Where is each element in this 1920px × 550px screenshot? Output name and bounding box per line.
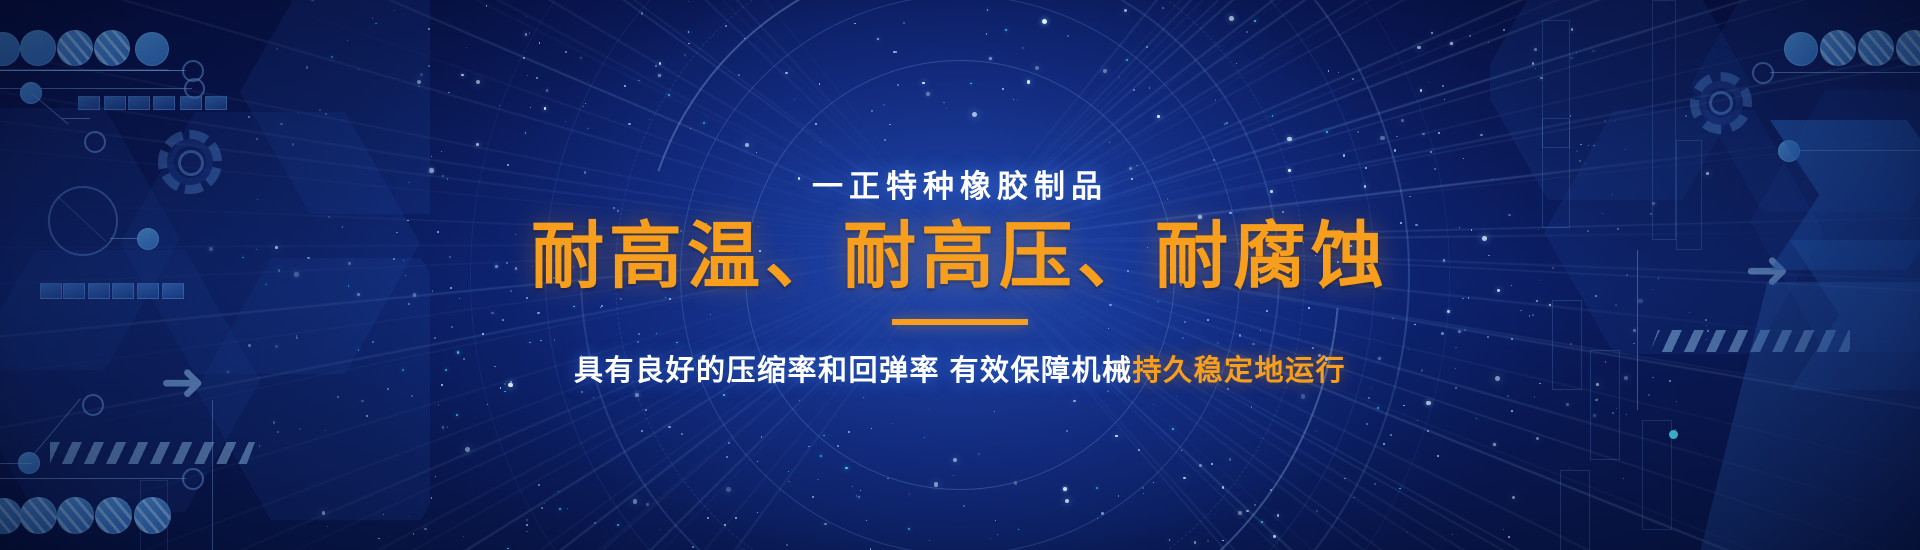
hero-banner: ➜ — [0, 0, 1920, 550]
accent-divider — [892, 319, 1028, 325]
brand-eyebrow: 一正特种橡胶制品 — [812, 161, 1108, 206]
page-title: 耐高温、耐高压、耐腐蚀 — [531, 220, 1389, 293]
tagline-primary: 具有良好的压缩率和回弹率 有效保障机械 — [574, 355, 1133, 387]
tagline-accent: 持久稳定地运行 — [1133, 355, 1347, 387]
tagline: 具有良好的压缩率和回弹率 有效保障机械持久稳定地运行 — [574, 347, 1346, 389]
hero-text-block: 一正特种橡胶制品 耐高温、耐高压、耐腐蚀 具有良好的压缩率和回弹率 有效保障机械… — [0, 0, 1920, 550]
